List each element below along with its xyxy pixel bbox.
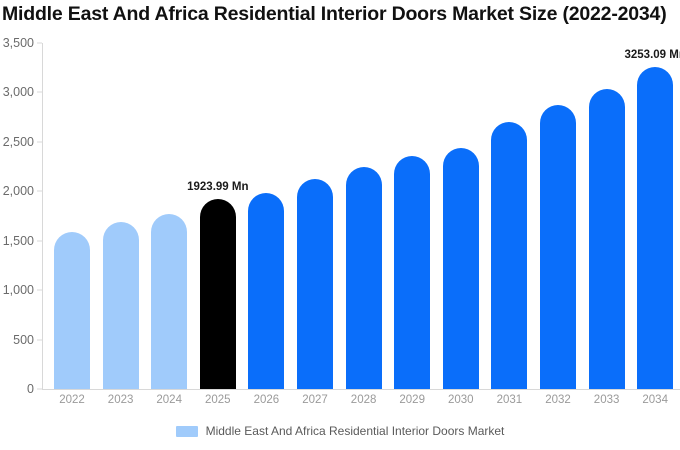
bar-2028[interactable] [346, 167, 382, 389]
data-label-2034: 3253.09 Mn [625, 49, 680, 61]
y-axis-tick-label: 2,000 [3, 184, 34, 198]
legend-swatch-icon [176, 426, 198, 437]
bar-2025[interactable] [200, 199, 236, 389]
y-axis-tick-mark [37, 141, 42, 142]
bar-2030[interactable] [443, 148, 479, 389]
y-axis-tick-label: 3,000 [3, 85, 34, 99]
bar-2033[interactable] [589, 89, 625, 389]
bar-2029[interactable] [394, 156, 430, 389]
y-axis-tick-mark [37, 92, 42, 93]
x-axis-line [42, 389, 680, 390]
bar-2024[interactable] [151, 214, 187, 389]
y-axis-tick-label: 500 [13, 333, 34, 347]
x-axis-tick-label: 2022 [59, 394, 85, 406]
y-axis-tick-mark [37, 43, 42, 44]
bar-2027[interactable] [297, 179, 333, 389]
plot-area: 05001,0001,5002,0002,5003,0003,500 1923.… [42, 43, 680, 389]
bar-2034[interactable] [637, 67, 673, 389]
y-axis-tick-label: 0 [27, 382, 34, 396]
y-axis-tick-mark [37, 389, 42, 390]
bar-2031[interactable] [491, 122, 527, 389]
y-axis-tick-mark [37, 191, 42, 192]
x-axis-tick-label: 2023 [108, 394, 134, 406]
y-axis-tick-label: 1,500 [3, 234, 34, 248]
x-axis-tick-label: 2034 [642, 394, 668, 406]
bar-chart: Middle East And Africa Residential Inter… [0, 0, 680, 450]
y-axis-tick-label: 2,500 [3, 135, 34, 149]
legend-label: Middle East And Africa Residential Inter… [206, 424, 505, 438]
x-axis-tick-label: 2031 [497, 394, 523, 406]
x-axis-tick-label: 2030 [448, 394, 474, 406]
x-axis-tick-label: 2032 [545, 394, 571, 406]
x-axis-tick-label: 2029 [399, 394, 425, 406]
data-label-2025: 1923.99 Mn [187, 181, 248, 193]
x-axis-tick-label: 2033 [594, 394, 620, 406]
chart-title: Middle East And Africa Residential Inter… [2, 1, 680, 27]
bar-2022[interactable] [54, 232, 90, 389]
y-axis-tick-mark [37, 339, 42, 340]
x-axis-tick-label: 2028 [351, 394, 377, 406]
chart-legend: Middle East And Africa Residential Inter… [0, 424, 680, 438]
x-axis-tick-label: 2026 [254, 394, 280, 406]
y-axis-tick-label: 1,000 [3, 283, 34, 297]
bar-2023[interactable] [103, 222, 139, 389]
bar-2026[interactable] [248, 193, 284, 389]
bar-2032[interactable] [540, 105, 576, 389]
y-axis-tick-label: 3,500 [3, 36, 34, 50]
x-axis-tick-label: 2027 [302, 394, 328, 406]
x-axis-tick-label: 2024 [156, 394, 182, 406]
x-axis-tick-label: 2025 [205, 394, 231, 406]
y-axis-tick-mark [37, 240, 42, 241]
y-axis-tick-mark [37, 290, 42, 291]
